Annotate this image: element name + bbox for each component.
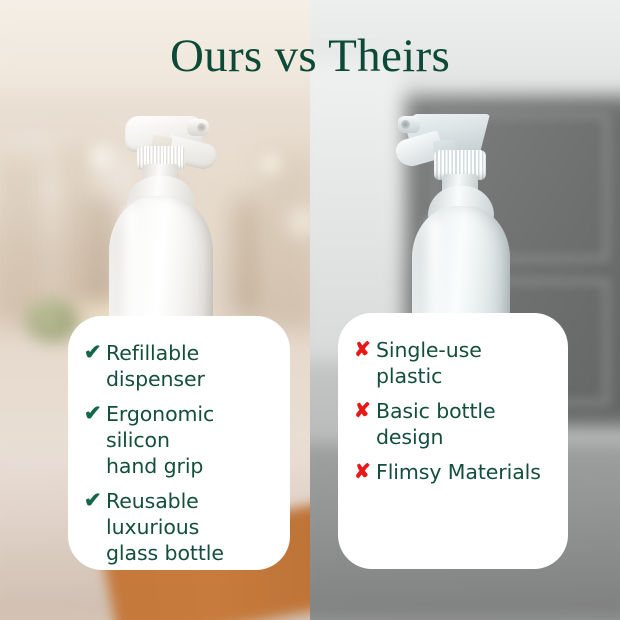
spray-nozzle [187,119,209,136]
ours-feature-card: ✔ Refillable dispenser ✔ Ergonomic silic… [68,316,290,570]
cross-icon: ✘ [354,337,376,363]
theirs-feature-list: ✘ Single-use plastic ✘ Basic bottle desi… [354,337,554,485]
theirs-feature-card: ✘ Single-use plastic ✘ Basic bottle desi… [338,313,568,569]
list-item: ✔ Refillable dispenser [84,340,276,392]
list-item: ✘ Single-use plastic [354,337,554,389]
check-icon: ✔ [84,340,106,366]
check-icon: ✔ [84,401,106,427]
cross-icon: ✘ [354,398,376,424]
feature-label: Reusable luxurious glass bottle [106,488,276,566]
feature-label: Ergonomic silicon hand grip [106,401,276,479]
comparison-infographic: Ours vs Theirs ✔ Refillable dispenser [0,0,620,620]
cross-icon: ✘ [354,459,376,485]
ours-feature-list: ✔ Refillable dispenser ✔ Ergonomic silic… [84,340,276,566]
list-item: ✘ Flimsy Materials [354,459,554,485]
list-item: ✘ Basic bottle design [354,398,554,450]
feature-label: Basic bottle design [376,398,496,450]
feature-label: Refillable dispenser [106,340,276,392]
list-item: ✔ Reusable luxurious glass bottle [84,488,276,566]
spray-nozzle [398,116,420,133]
left-pendant-light [256,150,286,178]
page-title: Ours vs Theirs [0,26,620,86]
list-item: ✔ Ergonomic silicon hand grip [84,401,276,479]
feature-label: Flimsy Materials [376,459,541,485]
feature-label: Single-use plastic [376,337,554,389]
check-icon: ✔ [84,488,106,514]
